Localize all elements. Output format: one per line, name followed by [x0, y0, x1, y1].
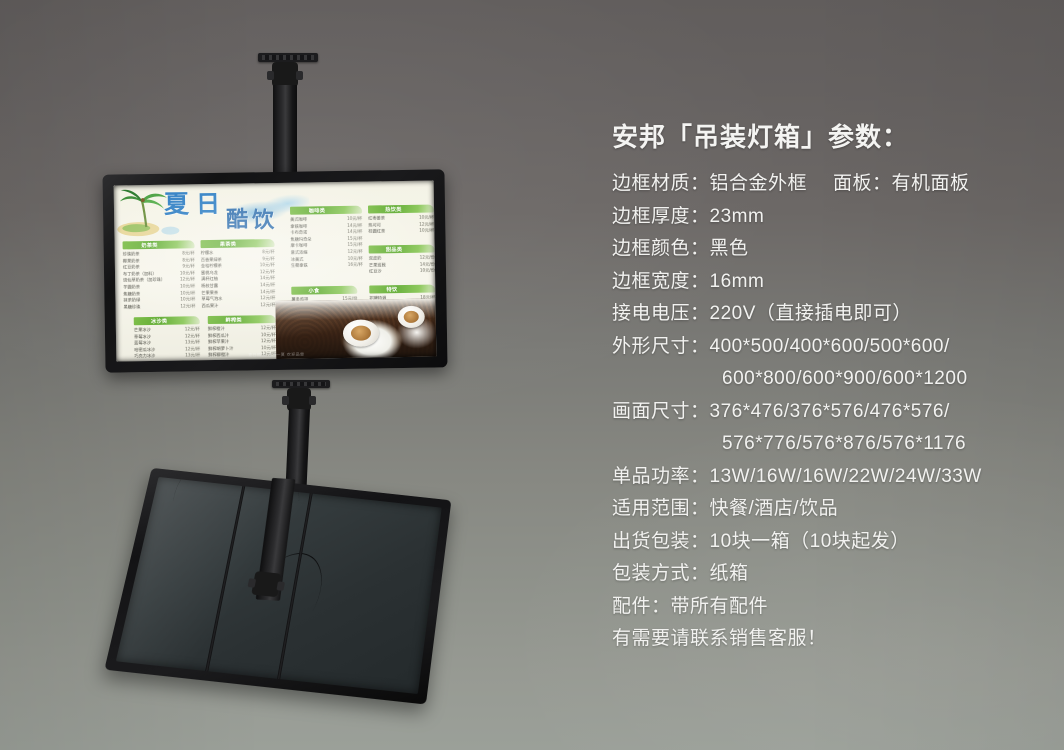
menu-poster-title: 夏 日 酷 饮 — [160, 187, 311, 237]
menu-section-heading-label: 热饮类 — [385, 206, 402, 213]
spec-row-picture-size: 画面尺寸： 376*476/376*576/476*576/ — [612, 402, 1042, 421]
lightbox-upper: 夏 日 酷 饮 奶茶类 珍珠奶茶8元/杯 椰果奶茶8元/杯 红豆奶茶9元/杯 布… — [102, 169, 447, 372]
menu-item-price: 16元/杯 — [348, 262, 363, 269]
menu-column-left-1: 奶茶类 珍珠奶茶8元/杯 椰果奶茶8元/杯 红豆奶茶9元/杯 布丁奶茶（加料）1… — [123, 240, 196, 310]
spec-value: 600*800/600*900/600*1200 — [722, 369, 968, 388]
menu-item-row: 生椰拿铁16元/杯 — [291, 262, 363, 270]
menu-section-heading-label: 奶茶类 — [141, 241, 158, 248]
menu-section-heading: 冰沙类 — [134, 316, 200, 325]
menu-item-name: 西瓜果汁 — [201, 303, 218, 310]
lower-panel-pivot-knuckle — [251, 571, 281, 597]
menu-section-heading: 特饮 — [369, 284, 435, 293]
mount-pivot-knuckle-upper — [272, 62, 298, 87]
menu-item-price: 12元/杯 — [180, 303, 195, 310]
menu-section-heading-label: 果茶类 — [220, 240, 237, 247]
menu-section-heading-label: 冰沙类 — [151, 317, 168, 324]
menu-item-row: 红豆沙10元/份 — [369, 268, 435, 276]
coffee-crema — [403, 311, 418, 324]
menu-item-name: 生椰拿铁 — [291, 263, 308, 270]
menu-section-heading: 甜品类 — [369, 244, 435, 253]
spec-row-frame-thickness: 边框厚度： 23mm — [612, 207, 1042, 226]
ceiling-mount-plate-upper — [258, 53, 318, 62]
menu-poster-face: 夏 日 酷 饮 奶茶类 珍珠奶茶8元/杯 椰果奶茶8元/杯 红豆奶茶9元/杯 布… — [114, 180, 437, 361]
menu-column-right-3: 甜品类 双皮奶12元/份 芒果班戟14元/份 红豆沙10元/份 — [369, 244, 435, 275]
contact-note: 有需要请联系销售客服！ — [612, 629, 827, 648]
spec-value: 376*476/376*576/476*576/ — [710, 402, 950, 421]
spec-title: 安邦「吊装灯箱」参数： — [612, 124, 1042, 150]
menu-section-heading-label: 甜品类 — [386, 245, 403, 252]
menu-section-heading-label: 特饮 — [386, 286, 397, 293]
spec-label-panel: 面板： — [807, 174, 892, 193]
spec-label: 适用范围： — [612, 499, 710, 518]
spec-value: 576*776/576*876/576*1176 — [722, 434, 966, 453]
spec-row-frame-color: 边框颜色： 黑色 — [612, 239, 1042, 258]
spec-value-panel: 有机面板 — [892, 174, 970, 193]
spec-row-voltage: 接电电压： 220V（直接插电即可） — [612, 304, 1042, 323]
spec-row-packaging-method: 包装方式： 纸箱 — [612, 564, 1042, 583]
spec-value: 220V（直接插电即可） — [710, 304, 912, 323]
spec-label: 配件： — [612, 597, 671, 616]
spec-value: 13W/16W/16W/22W/24W/33W — [710, 467, 982, 486]
spec-label: 边框材质： — [612, 174, 710, 193]
product-detail-image: 夏 日 酷 饮 奶茶类 珍珠奶茶8元/杯 椰果奶茶8元/杯 红豆奶茶9元/杯 布… — [0, 0, 1064, 750]
spec-label: 边框厚度： — [612, 207, 710, 226]
mount-pivot-knuckle-lower — [287, 388, 311, 411]
spec-label: 接电电压： — [612, 304, 710, 323]
spec-value: 纸箱 — [710, 564, 749, 583]
menu-item-name: 红豆沙 — [369, 269, 382, 276]
menu-section-heading: 鲜榨类 — [208, 315, 276, 324]
spec-row-frame-material: 边框材质： 铝合金外框 面板： 有机面板 — [612, 174, 1042, 193]
menu-section-heading-label: 小食 — [308, 287, 319, 294]
mount-plate-holes — [262, 55, 314, 60]
menu-title-char-2: 酷 — [226, 209, 248, 231]
spec-value: 黑色 — [710, 239, 749, 258]
spec-row-shipping-package: 出货包装： 10块一箱（10块起发） — [612, 532, 1042, 551]
ceiling-mount-plate-lower — [272, 380, 330, 388]
coffee-cup-secondary — [397, 306, 424, 328]
spec-row-contact-note: 有需要请联系销售客服！ — [612, 629, 1042, 648]
coffee-crema — [351, 325, 371, 340]
spec-row-frame-width: 边框宽度： 16mm — [612, 272, 1042, 291]
menu-item-row: 黑糖珍珠12元/杯 — [124, 303, 196, 311]
menu-section-heading-label: 鲜榨类 — [225, 316, 242, 323]
menu-item-name: 黑糖珍珠 — [124, 304, 141, 311]
lightbox-lower — [104, 468, 451, 705]
menu-column-right-2: 热饮类 红枣姜茶10元/杯 热可可12元/杯 桂圆红茶10元/杯 — [368, 204, 434, 235]
menu-item-price: 10元/杯 — [419, 228, 434, 235]
spec-value: 16mm — [710, 272, 765, 291]
spec-value: 带所有配件 — [671, 597, 769, 616]
spec-value: 400*500/400*600/500*600/ — [710, 337, 950, 356]
spec-label: 边框颜色： — [612, 239, 710, 258]
menu-title-char-3: 饮 — [252, 210, 274, 232]
menu-item-row: 桂圆红茶10元/杯 — [368, 228, 434, 236]
spec-value: 快餐/酒店/饮品 — [710, 499, 839, 518]
spec-value: 铝合金外框 — [710, 174, 808, 193]
spec-value: 23mm — [710, 207, 765, 226]
spec-label: 出货包装： — [612, 532, 710, 551]
spec-label: 包装方式： — [612, 564, 710, 583]
spec-row-application: 适用范围： 快餐/酒店/饮品 — [612, 499, 1042, 518]
spec-value: 10块一箱（10块起发） — [710, 532, 910, 551]
mount-pole-upper — [273, 85, 297, 177]
mount-plate-holes — [276, 382, 326, 386]
spec-label: 画面尺寸： — [612, 402, 710, 421]
menu-item-price: 12元/杯 — [260, 302, 275, 309]
spec-row-accessories: 配件： 带所有配件 — [612, 597, 1042, 616]
menu-item-row: 西瓜果汁12元/杯 — [201, 302, 275, 310]
spec-label: 单品功率： — [612, 467, 710, 486]
menu-section-heading: 奶茶类 — [123, 240, 195, 249]
coffee-cup-main — [343, 319, 379, 347]
spec-row-power: 单品功率： 13W/16W/16W/22W/24W/33W — [612, 467, 1042, 486]
menu-item-price: 10元/份 — [420, 268, 435, 275]
menu-section-heading: 热饮类 — [368, 204, 434, 213]
menu-item-name: 桂圆红茶 — [368, 228, 385, 235]
spec-label: 边框宽度： — [612, 272, 710, 291]
spec-row-outer-size-continued: 600*800/600*900/600*1200 — [612, 369, 1042, 388]
menu-title-char-1: 日 — [196, 192, 220, 216]
spec-row-outer-size: 外形尺寸： 400*500/400*600/500*600/ — [612, 337, 1042, 356]
menu-title-char-0: 夏 — [164, 191, 189, 216]
spec-label: 外形尺寸： — [612, 337, 710, 356]
menu-column-left-2: 果茶类 柠檬水8元/杯 百香果绿茶9元/杯 金桔柠檬茶10元/杯 蜜桃乌龙12元… — [201, 239, 276, 309]
menu-section-heading-label: 咖啡类 — [309, 207, 326, 214]
specification-panel: 安邦「吊装灯箱」参数： 边框材质： 铝合金外框 面板： 有机面板 边框厚度： 2… — [612, 124, 1042, 662]
menu-section-heading: 咖啡类 — [290, 206, 362, 215]
spec-row-picture-size-continued: 576*776/576*876/576*1176 — [612, 434, 1042, 453]
menu-column-right-1: 咖啡类 美式咖啡10元/杯 拿铁咖啡14元/杯 卡布奇诺14元/杯 焦糖玛奇朵1… — [290, 206, 363, 270]
menu-section-heading: 果茶类 — [201, 239, 275, 248]
menu-section-heading: 小食 — [291, 286, 357, 295]
